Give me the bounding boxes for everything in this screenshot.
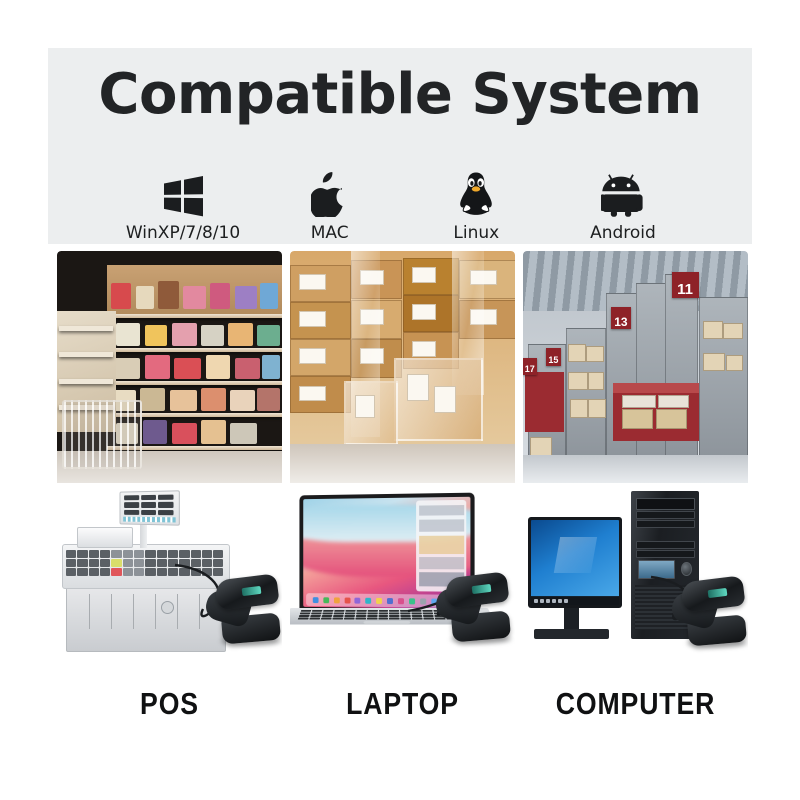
usage-scenario-panels: 11 13 15 17 <box>57 251 748 673</box>
os-item-linux: Linux <box>411 171 541 243</box>
aisle-sign-11: 11 <box>672 272 699 299</box>
apple-icon <box>311 171 349 217</box>
retail-store-shelves-photo <box>57 251 282 483</box>
linux-tux-icon <box>456 171 496 217</box>
scenario-panel-computer: 11 13 15 17 <box>523 251 748 673</box>
barcode-scanner <box>656 573 748 651</box>
os-label-linux: Linux <box>453 223 499 243</box>
aisle-sign-13: 13 <box>611 307 631 329</box>
scenario-panel-laptop <box>290 251 515 673</box>
aisle-sign-15: 15 <box>546 348 562 365</box>
page-title: Compatible System <box>48 62 752 127</box>
os-item-android: Android <box>558 171 688 243</box>
desktop-computer-image <box>523 483 748 673</box>
barcode-scanner <box>190 571 282 649</box>
scenario-panel-pos <box>57 251 282 673</box>
os-item-mac: MAC <box>265 171 395 243</box>
warehouse-cartons-photo <box>290 251 515 483</box>
compatible-os-list: WinXP/7/8/10 MAC <box>118 153 688 243</box>
panel-label-laptop: LAPTOP <box>306 686 500 732</box>
panel-labels: POS LAPTOP COMPUTER <box>57 686 748 732</box>
promo-page: Compatible System WinXP/7/8/10 <box>0 0 800 800</box>
laptop-image <box>290 483 515 673</box>
barcode-scanner <box>420 569 512 647</box>
panel-label-computer: COMPUTER <box>539 686 733 732</box>
pos-cash-register-image <box>57 483 282 673</box>
panel-label-pos: POS <box>73 686 267 732</box>
os-item-windows: WinXP/7/8/10 <box>118 171 248 243</box>
header-banner: Compatible System WinXP/7/8/10 <box>48 48 752 244</box>
os-label-android: Android <box>590 223 656 243</box>
os-label-mac: MAC <box>311 223 349 243</box>
aisle-sign-17: 17 <box>523 358 537 375</box>
android-icon <box>601 171 645 217</box>
windows-icon <box>161 171 205 217</box>
warehouse-aisles-photo: 11 13 15 17 <box>523 251 748 483</box>
os-label-windows: WinXP/7/8/10 <box>126 223 240 243</box>
